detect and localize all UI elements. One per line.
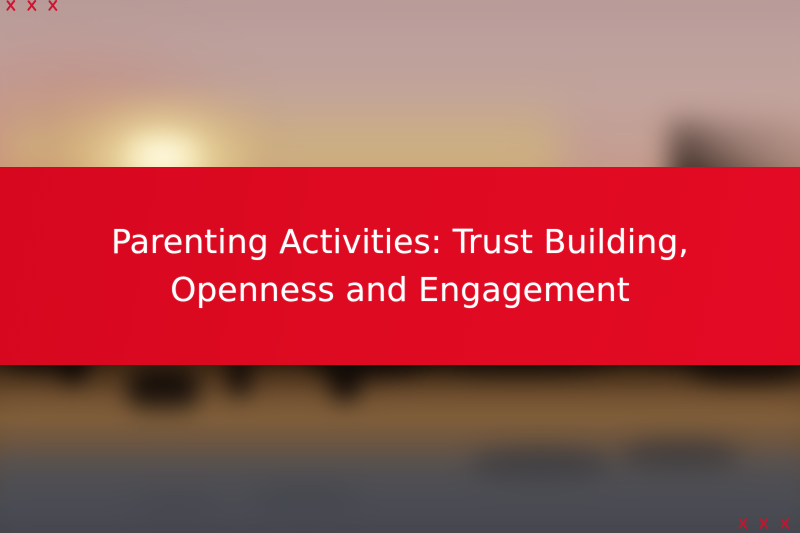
x-mark-icon (46, 0, 60, 13)
title-card: Parenting Activities: Trust Building, Op… (0, 0, 800, 533)
water-layer (0, 423, 800, 533)
x-mark-icon (25, 0, 39, 13)
decoration-x-group-top-left (4, 0, 60, 13)
decoration-x-group-bottom-right (736, 515, 792, 531)
x-mark-icon (778, 515, 792, 531)
x-mark-icon (757, 515, 771, 531)
page-title: Parenting Activities: Trust Building, Op… (50, 218, 750, 314)
x-mark-icon (736, 515, 750, 531)
title-banner: Parenting Activities: Trust Building, Op… (0, 167, 800, 365)
page-title-line-2: and Engagement (345, 270, 629, 309)
x-mark-icon (4, 0, 18, 13)
